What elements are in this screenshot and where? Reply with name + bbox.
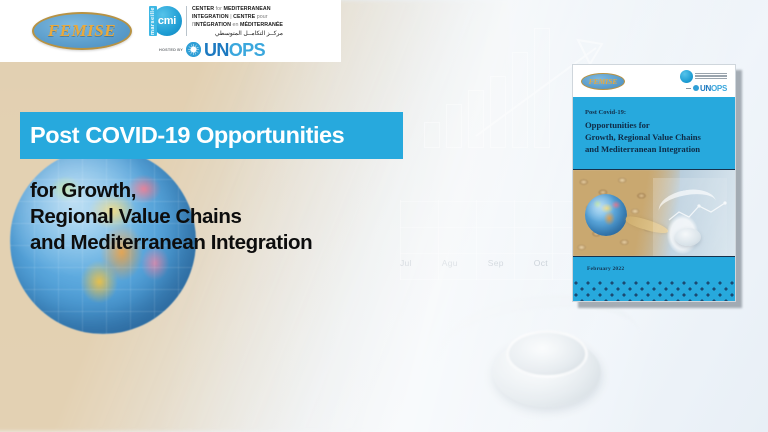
cmi-logo-mark: marseille cmi (149, 6, 182, 36)
cover-unops-dash (686, 88, 691, 89)
cover-footer: February 2022 (573, 257, 735, 301)
title-banner: Post COVID-19 Opportunities (20, 112, 403, 159)
cmi-line1-bold2: MEDITERRANEAN (223, 6, 270, 12)
cover-cmi-circle-icon (680, 70, 693, 83)
unops-wordmark-ops: OPS (229, 40, 265, 60)
cmi-wordmark-text: CENTER for MEDITERRANEAN INTEGRATION | C… (192, 6, 283, 39)
cover-kicker: Post Covid-19: (585, 109, 723, 116)
cover-globe-image (585, 194, 627, 236)
cover-unops-un: UN (700, 84, 711, 93)
unops-hosted-by-label: HOSTED BY (159, 48, 183, 52)
cmi-mark-label: cmi (158, 15, 176, 27)
cover-cmi-text-lines (695, 73, 727, 79)
cmi-line3-bold: INTÉGRATION (194, 22, 231, 28)
cmi-line2-bold: INTEGRATION (192, 14, 229, 20)
month-label: Agu (442, 258, 458, 268)
cmi-divider (186, 6, 187, 36)
femise-logo: FEMISE (32, 12, 132, 50)
cover-un-emblem-icon (693, 85, 699, 91)
cmi-line3-light2: en (232, 22, 238, 28)
cover-title-line-1: Opportunities for (585, 119, 723, 131)
cover-unops-logo: UNOPS (686, 84, 727, 93)
subtitle-line-2: Regional Value Chains (30, 204, 312, 230)
cover-line-chart-icon (667, 200, 729, 226)
cover-unops-wordmark: UNOPS (700, 84, 727, 93)
unops-wordmark: UNOPS (204, 41, 265, 59)
femise-logo-label: FEMISE (48, 21, 116, 41)
cmi-unops-logo-block: marseille cmi CENTER for MEDITERRANEAN (149, 3, 283, 59)
unops-logo: HOSTED BY UNOPS (159, 41, 283, 59)
month-label: Jul (400, 258, 412, 268)
cover-date: February 2022 (587, 266, 624, 272)
unops-wordmark-un: UN (204, 40, 229, 60)
cmi-line-3: l'INTÉGRATION en MÉDITERRANÉE (192, 22, 283, 30)
page-title: Post COVID-19 Opportunities (30, 122, 344, 149)
cmi-line-1: CENTER for MEDITERRANEAN (192, 6, 283, 14)
header-logo-bar: FEMISE marseille cmi CENTER for (0, 0, 341, 62)
cmi-line-2: INTEGRATION | CENTRE pour (192, 14, 283, 22)
report-cover-thumbnail[interactable]: FEMISE UNOPS Post Covid-19: Oppor (572, 64, 736, 302)
cmi-line1-bold: CENTER (192, 6, 214, 12)
cmi-line2-light: pour (257, 14, 268, 20)
stethoscope-diaphragm-image (506, 330, 588, 378)
un-emblem-icon (186, 42, 201, 57)
month-label: Sep (488, 258, 504, 268)
cmi-line2-bold2: CENTRE (233, 14, 255, 20)
cover-photo-band (573, 169, 735, 257)
page-subtitle: for Growth, Regional Value Chains and Me… (30, 178, 312, 255)
cover-title-block: Post Covid-19: Opportunities for Growth,… (573, 97, 735, 169)
cover-title: Opportunities for Growth, Regional Value… (585, 119, 723, 156)
cover-femise-label: FEMISE (589, 77, 618, 86)
month-label: Oct (534, 258, 548, 268)
cover-pattern-strip (573, 279, 735, 301)
cover-title-line-2: Growth, Regional Value Chains (585, 131, 723, 143)
subtitle-line-1: for Growth, (30, 178, 312, 204)
cmi-line2-sep: | (230, 14, 231, 20)
slide-canvas: Jul Agu Sep Oct Nov Dec FEMISE marseille… (0, 0, 768, 432)
subtitle-line-3: and Mediterranean Integration (30, 230, 312, 256)
cmi-line3-bold2: MÉDITERRANÉE (240, 22, 283, 28)
cover-femise-logo: FEMISE (581, 73, 625, 90)
cover-cmi-logo (680, 70, 727, 83)
cmi-line1-light: for (216, 6, 222, 12)
cover-title-line-3: and Mediterranean Integration (585, 143, 723, 155)
cmi-marseille-label: marseille (149, 6, 157, 36)
cmi-arabic-line: مركــز التكامــل المتوسطي (192, 30, 283, 39)
cover-unops-ops: OPS (711, 84, 727, 93)
cover-logo-row: FEMISE UNOPS (573, 65, 735, 97)
